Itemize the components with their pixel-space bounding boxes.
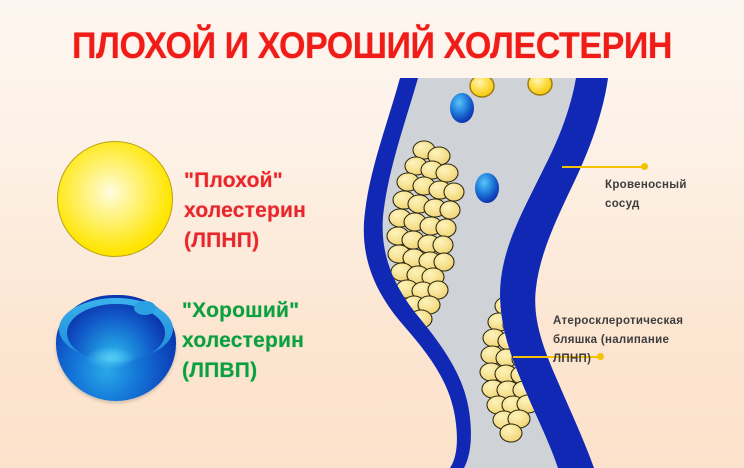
plaque-callout-line3: ЛПНП) xyxy=(553,350,683,369)
blood-vessel-leader-line xyxy=(562,166,644,168)
ldl-label-line1: "Плохой" xyxy=(184,166,306,196)
hdl-particle xyxy=(450,93,474,123)
hdl-particle xyxy=(410,413,434,443)
plaque-callout-line1: Атеросклеротическая xyxy=(553,312,683,331)
blood-vessel-diagram xyxy=(362,78,612,468)
ldl-legend-label: "Плохой" холестерин (ЛПНП) xyxy=(184,166,306,256)
hdl-bowl-notch xyxy=(134,301,156,315)
hdl-particle xyxy=(475,173,499,203)
blood-vessel-callout-label: Кровеносный сосуд xyxy=(605,176,687,214)
cholesterol-infographic: ПЛОХОЙ И ХОРОШИЙ ХОЛЕСТЕРИН "Плохой" хол… xyxy=(0,0,744,468)
ldl-label-line2: холестерин xyxy=(184,196,306,226)
ldl-label-line3: (ЛПНП) xyxy=(184,226,306,256)
hdl-label-line1: "Хороший" xyxy=(182,296,304,326)
blood-vessel-callout-line2: сосуд xyxy=(605,195,687,214)
ldl-particle xyxy=(470,78,494,97)
hdl-label-line2: холестерин xyxy=(182,326,304,356)
ldl-sphere-icon xyxy=(57,141,173,257)
hdl-legend-label: "Хороший" холестерин (ЛПВП) xyxy=(182,296,304,386)
hdl-bowl-highlight xyxy=(86,347,134,369)
hdl-bowl-icon xyxy=(56,295,176,401)
page-title: ПЛОХОЙ И ХОРОШИЙ ХОЛЕСТЕРИН xyxy=(30,24,714,68)
ldl-particle xyxy=(408,382,432,404)
ldl-particle xyxy=(528,78,552,95)
blood-vessel-callout-line1: Кровеносный xyxy=(605,176,687,195)
plaque-callout-label: Атеросклеротическая бляшка (налипание ЛП… xyxy=(553,312,683,369)
plaque-callout-line2: бляшка (налипание xyxy=(553,331,683,350)
hdl-label-line3: (ЛПВП) xyxy=(182,356,304,386)
blood-vessel-leader-dot xyxy=(641,163,648,170)
